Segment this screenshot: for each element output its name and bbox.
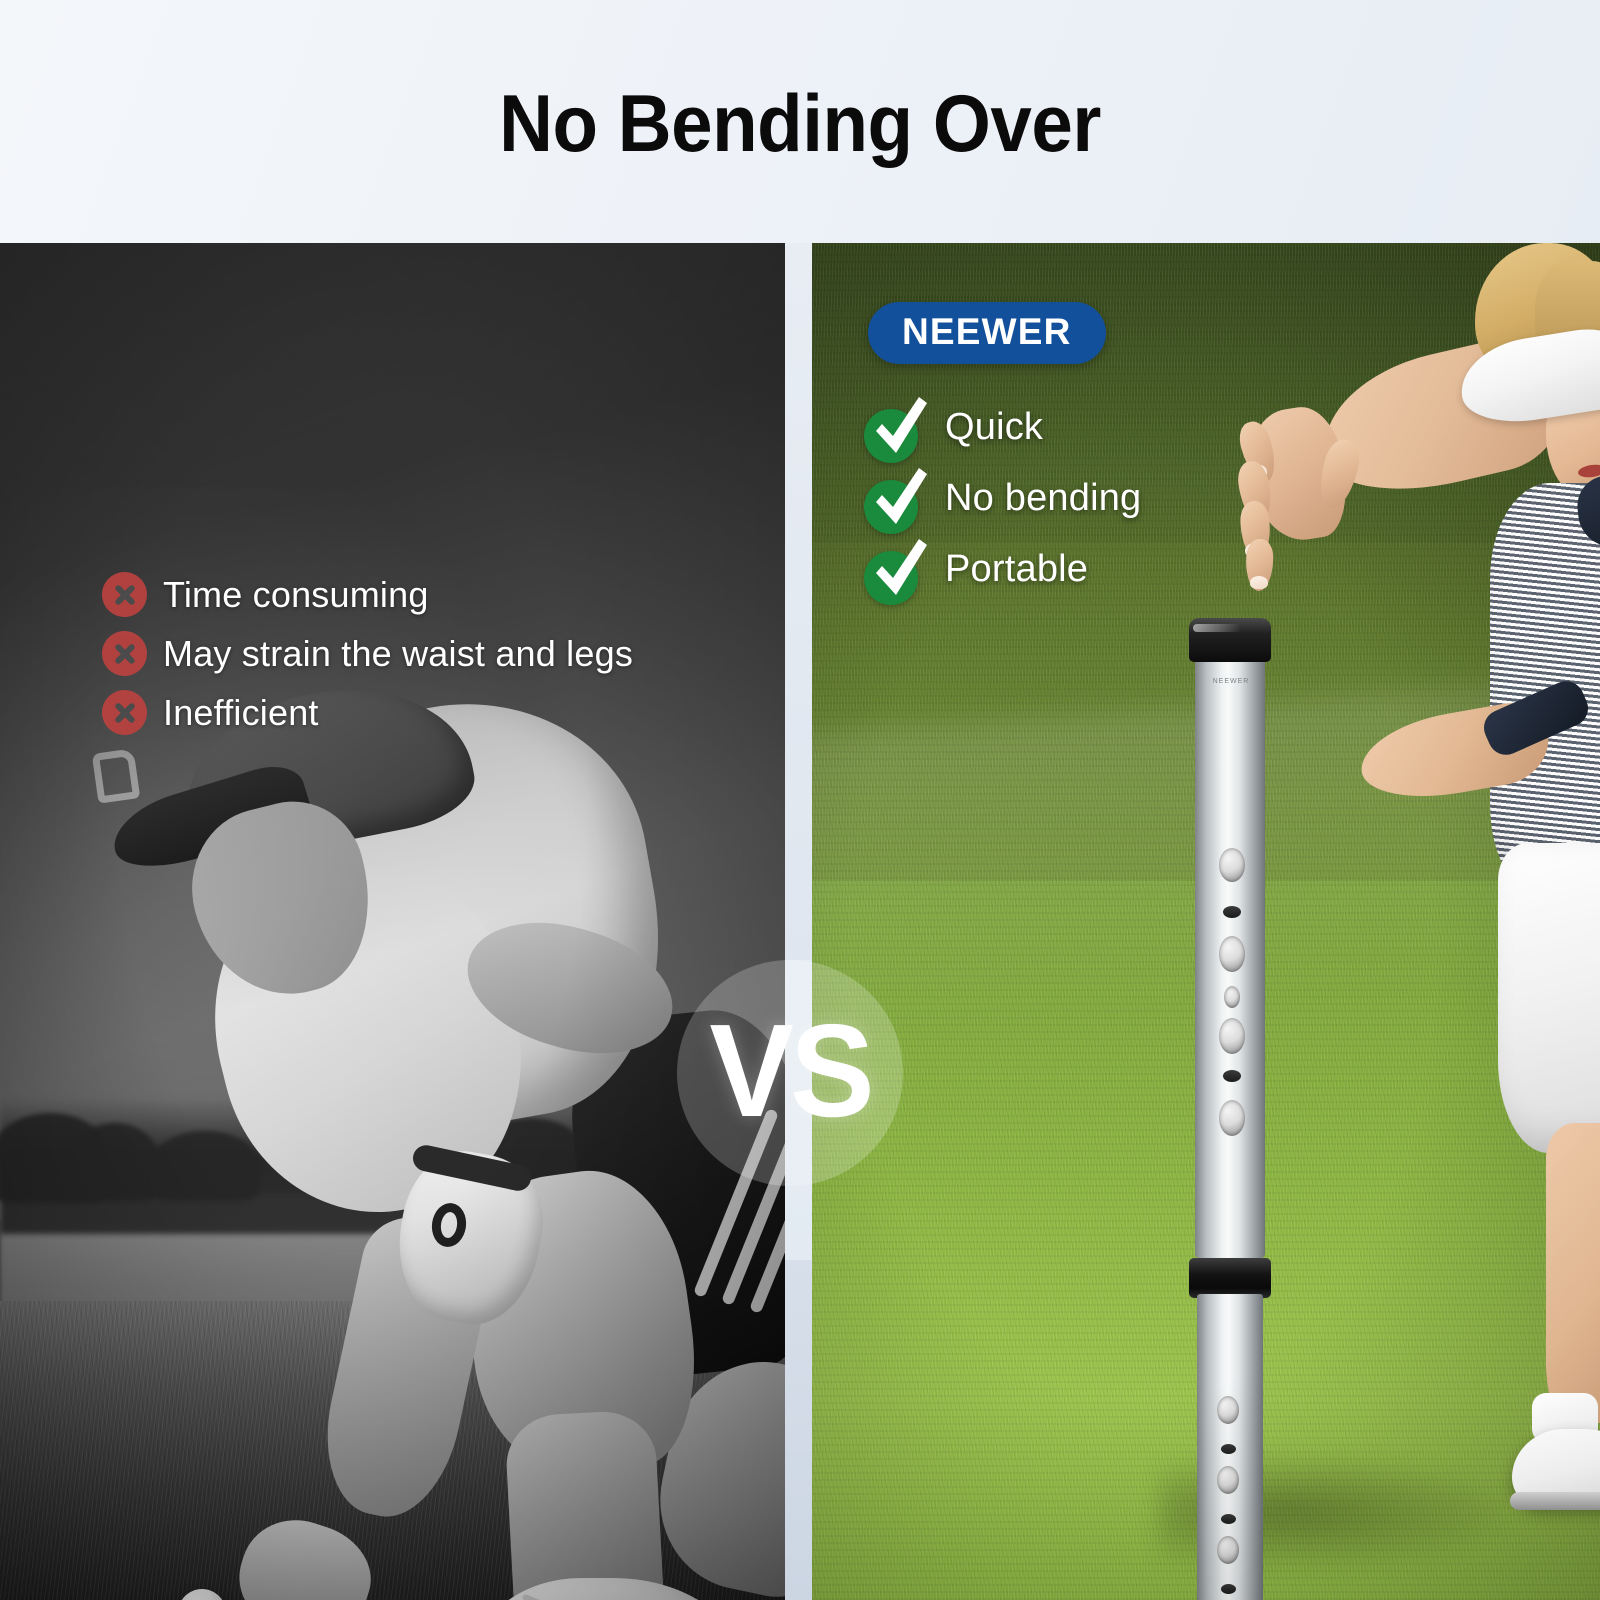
check-mark-glyph bbox=[872, 397, 930, 459]
x-circle-icon bbox=[102, 572, 147, 617]
brand-name: NEEWER bbox=[902, 311, 1072, 352]
con-label: Inefficient bbox=[163, 693, 319, 733]
pro-label: No bending bbox=[945, 478, 1141, 520]
panel-divider bbox=[785, 243, 812, 1600]
x-circle-icon bbox=[102, 631, 147, 676]
con-label: Time consuming bbox=[163, 575, 429, 615]
list-item: Time consuming bbox=[102, 565, 722, 624]
list-item: May strain the waist and legs bbox=[102, 624, 722, 683]
left-scene-photo bbox=[0, 243, 785, 1600]
product-comparison-infographic: No Bending Over bbox=[0, 0, 1600, 1600]
x-circle-icon bbox=[102, 690, 147, 735]
list-item: Portable bbox=[864, 534, 1284, 605]
pro-label: Quick bbox=[945, 407, 1043, 449]
check-circle-icon bbox=[864, 401, 918, 455]
list-item: Inefficient bbox=[102, 683, 722, 742]
vs-divider-strip bbox=[785, 960, 812, 1260]
check-circle-icon bbox=[864, 543, 918, 597]
check-mark-glyph bbox=[872, 468, 930, 530]
check-mark-glyph bbox=[872, 539, 930, 601]
comparison-panels: Time consuming May strain the waist and … bbox=[0, 243, 1600, 1600]
dark-overlay bbox=[0, 243, 785, 1600]
list-item: No bending bbox=[864, 463, 1284, 534]
cons-list: Time consuming May strain the waist and … bbox=[102, 565, 722, 742]
brand-badge: NEEWER bbox=[868, 302, 1106, 364]
pros-list: Quick No bending bbox=[864, 392, 1284, 605]
page-title: No Bending Over bbox=[64, 84, 1536, 165]
left-panel-problem: Time consuming May strain the waist and … bbox=[0, 243, 785, 1600]
list-item: Quick bbox=[864, 392, 1284, 463]
con-label: May strain the waist and legs bbox=[163, 634, 633, 674]
right-panel-solution: NEEWER bbox=[812, 243, 1600, 1600]
header-band: No Bending Over bbox=[0, 0, 1600, 243]
check-circle-icon bbox=[864, 472, 918, 526]
pro-label: Portable bbox=[945, 549, 1088, 591]
